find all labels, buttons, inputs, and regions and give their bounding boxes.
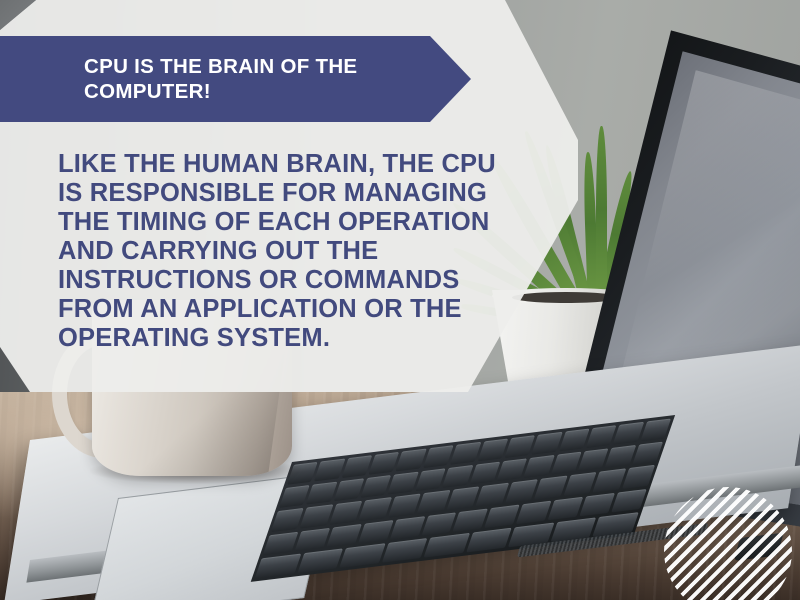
keyboard-key — [476, 483, 509, 506]
plant-leaf — [596, 126, 607, 312]
keyboard-key — [632, 442, 663, 465]
keyboard-key — [613, 422, 644, 445]
keyboard-key — [279, 485, 310, 508]
keyboard-key — [550, 452, 581, 475]
keyboard-key — [578, 448, 609, 471]
keyboard-key — [415, 468, 446, 491]
keyboard-key — [466, 527, 512, 552]
keyboard-key — [294, 527, 330, 551]
keyboard-key — [622, 465, 655, 488]
keyboard-key — [453, 508, 489, 532]
keyboard-key — [531, 432, 562, 455]
keyboard-key — [306, 482, 337, 505]
keyboard-key — [423, 445, 454, 468]
keyboard-key — [326, 524, 362, 548]
keyboard-key — [477, 438, 508, 461]
keyboard-key — [388, 494, 421, 517]
keyboard-key — [563, 472, 596, 495]
keyboard-key — [300, 505, 333, 528]
keyboard-key — [381, 538, 427, 563]
keyboard-key — [368, 452, 399, 475]
keyboard-key — [339, 543, 385, 568]
keyboard-key — [390, 516, 426, 540]
keyboard-key — [580, 492, 616, 516]
keyboard-key — [611, 489, 647, 513]
keyboard-key — [523, 455, 554, 478]
keyboard-key — [548, 496, 584, 520]
keyboard-key — [359, 497, 392, 520]
title-banner: CPU IS THE BRAIN OF THE COMPUTER! — [0, 36, 471, 122]
keyboard-key — [263, 531, 299, 555]
keyboard-key — [450, 442, 481, 465]
keyboard-key — [496, 458, 527, 481]
keyboard-key — [586, 425, 617, 448]
keyboard-key — [424, 533, 470, 558]
keyboard-key — [485, 504, 521, 528]
keyboard-key — [505, 480, 538, 503]
keyboard-key — [333, 478, 364, 501]
infographic-slide: CPU IS THE BRAIN OF THE COMPUTER! LIKE T… — [0, 0, 800, 600]
banner-title: CPU IS THE BRAIN OF THE COMPUTER! — [84, 54, 394, 105]
keyboard-key — [593, 469, 626, 492]
keyboard-key — [605, 445, 636, 468]
keyboard-key — [469, 462, 500, 485]
keyboard-key — [640, 418, 671, 441]
keyboard-key — [255, 553, 301, 578]
keyboard-key — [516, 500, 552, 524]
keyboard-key — [297, 548, 343, 573]
keyboard-key — [558, 428, 589, 451]
keyboard-key — [358, 520, 394, 544]
keyboard-key — [504, 435, 535, 458]
keyboard-key — [421, 512, 457, 536]
keyboard-key — [442, 465, 473, 488]
keyboard-key — [360, 475, 391, 498]
keyboard-key — [417, 490, 450, 513]
body-paragraph: LIKE THE HUMAN BRAIN, THE CPU IS RESPONS… — [58, 150, 510, 353]
keyboard-key — [446, 487, 479, 510]
keyboard-key — [388, 472, 419, 495]
keyboard-key — [314, 458, 345, 481]
keyboard-key — [396, 448, 427, 471]
keyboard-key — [341, 455, 372, 478]
keyboard-key — [534, 476, 567, 499]
